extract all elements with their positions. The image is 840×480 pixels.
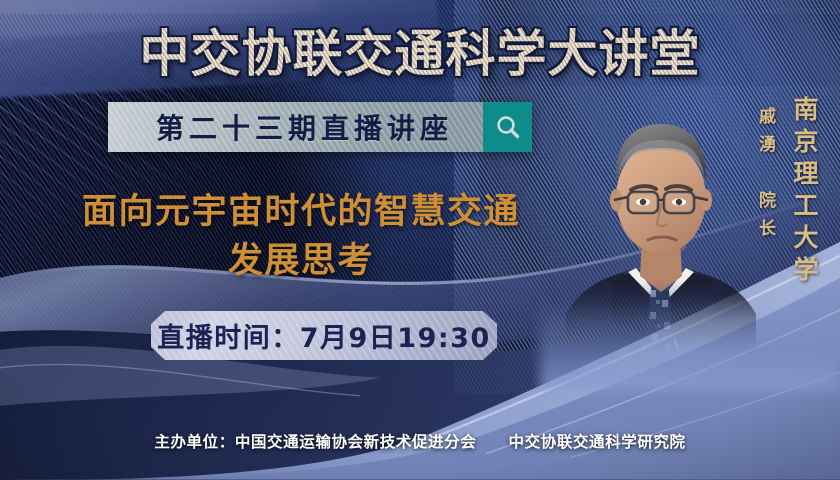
speaker-name-title: 戚湧 院长 xyxy=(753,107,778,247)
series-banner: 第二十三期直播讲座 xyxy=(108,102,532,152)
search-icon[interactable] xyxy=(483,102,532,152)
broadcast-time-label: 直播时间：7月9日19:30 xyxy=(157,316,491,355)
portrait-blend-fade xyxy=(540,300,840,390)
lecture-title-line-2: 发展思考 xyxy=(46,237,556,286)
speaker-affiliation: 南京理工大学 xyxy=(786,96,822,288)
page-title: 中交协联交通科学大讲堂 xyxy=(0,14,840,86)
live-lecture-poster: 中交协联交通科学大讲堂 第二十三期直播讲座 面向元宇宙时代的智慧交通 发展思考 … xyxy=(0,0,840,480)
series-banner-label: 第二十三期直播讲座 xyxy=(108,102,483,152)
lecture-title-line-1: 面向元宇宙时代的智慧交通 xyxy=(46,188,556,237)
main-title-text: 中交协联交通科学大讲堂 xyxy=(140,25,701,83)
organizer-footer: 主办单位：中国交通运输协会新技术促进分会 中交协联交通科学研究院 xyxy=(0,430,840,452)
lecture-title: 面向元宇宙时代的智慧交通 发展思考 xyxy=(46,188,556,286)
broadcast-time-badge: 直播时间：7月9日19:30 xyxy=(151,311,497,360)
